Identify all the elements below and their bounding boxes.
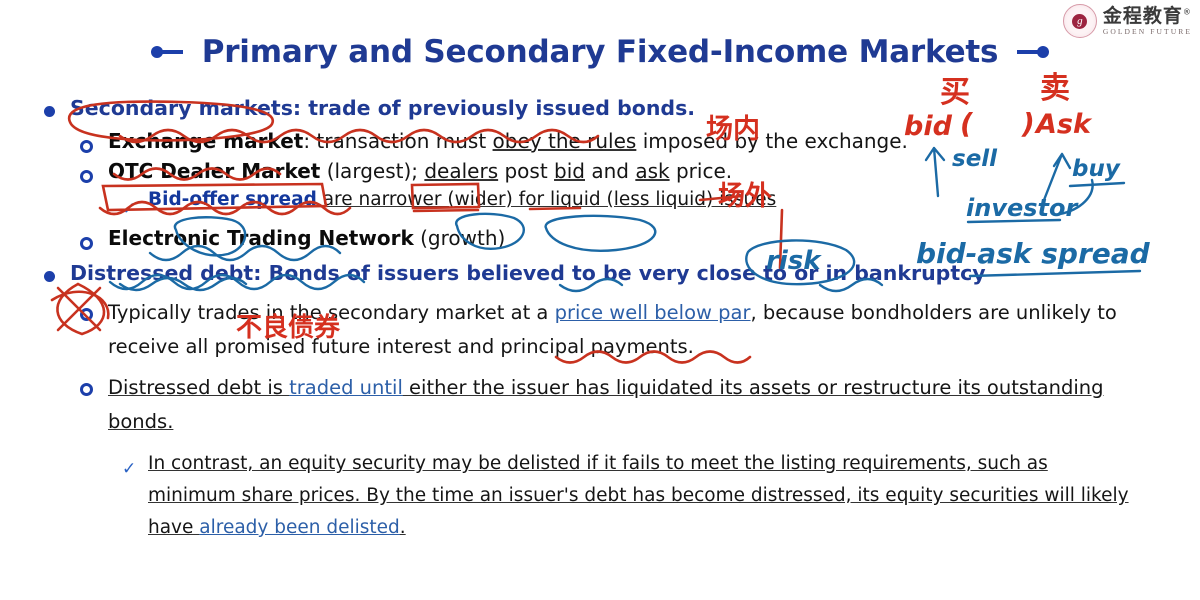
typically-trades-text: Typically trades in the secondary market…	[108, 296, 1143, 363]
bullet-secondary-markets: Secondary markets: trade of previously i…	[44, 96, 1164, 122]
bullet-dot-icon	[44, 96, 70, 117]
typically-trades-a: Typically trades in the secondary market…	[108, 301, 555, 324]
slide-canvas: g 金程教育® GOLDEN FUTURE Primary and Second…	[0, 0, 1200, 600]
slide-body: Secondary markets: trade of previously i…	[44, 96, 1164, 544]
exchange-market-rest-b: imposed by the exchange.	[636, 129, 908, 153]
bullet-ring-icon	[80, 296, 108, 321]
bullet-exchange-market: Exchange market: transaction must obey t…	[80, 128, 1164, 154]
arrow-right-icon	[1013, 44, 1049, 60]
logo-name-cn: 金程教育®	[1103, 7, 1192, 26]
otc-label: OTC Dealer Market	[108, 159, 320, 183]
bullet-exchange-market-text: Exchange market: transaction must obey t…	[108, 128, 908, 154]
bullet-distressed-debt: Distressed debt: Bonds of issuers believ…	[44, 261, 1164, 287]
exchange-market-underlined: obey the rules	[493, 129, 637, 153]
check-icon: ✓	[122, 448, 148, 479]
brand-logo: g 金程教育® GOLDEN FUTURE	[1063, 4, 1192, 38]
bullet-otc-text: OTC Dealer Market (largest); dealers pos…	[108, 158, 732, 184]
bid-offer-spread-label: Bid-offer spread	[148, 189, 317, 210]
otc-underline-ask: ask	[635, 159, 669, 183]
slide-title-row: Primary and Secondary Fixed-Income Marke…	[0, 34, 1200, 70]
bullet-electronic-trading-network: Electronic Trading Network (growth)	[80, 225, 1164, 251]
bullet-ring-icon	[80, 225, 108, 250]
link-price-well-below-par[interactable]: price well below par	[555, 301, 751, 324]
otc-rest-a: (largest);	[320, 159, 424, 183]
bullet-distressed-debt-text: Distressed debt: Bonds of issuers believ…	[70, 261, 986, 287]
otc-rest-b: post	[498, 159, 554, 183]
traded-until-a: Distressed debt is	[108, 376, 289, 399]
logo-emblem-icon: g	[1063, 4, 1097, 38]
bid-offer-spread-rest: are narrower (wider) for liquid (less li…	[317, 189, 776, 210]
in-contrast-b: .	[400, 517, 406, 538]
bid-offer-spread-text: Bid-offer spread are narrower (wider) fo…	[148, 188, 776, 212]
electronic-trading-network-label: Electronic Trading Network	[108, 226, 414, 250]
traded-until-text: Distressed debt is traded until either t…	[108, 371, 1143, 438]
bullet-typically-trades: Typically trades in the secondary market…	[80, 296, 1164, 363]
bullet-secondary-markets-text: Secondary markets: trade of previously i…	[70, 96, 695, 122]
bullet-traded-until: Distressed debt is traded until either t…	[80, 371, 1164, 438]
check-icon: ✓	[122, 188, 148, 219]
bullet-in-contrast: ✓ In contrast, an equity security may be…	[122, 448, 1164, 543]
arrow-left-icon	[151, 44, 187, 60]
bullet-otc-dealer-market: OTC Dealer Market (largest); dealers pos…	[80, 158, 1164, 184]
bullet-bid-offer-spread: ✓ Bid-offer spread are narrower (wider) …	[122, 188, 1164, 219]
otc-rest-d: price.	[670, 159, 733, 183]
exchange-market-rest-a: : transaction must	[303, 129, 492, 153]
logo-name-cn-text: 金程教育	[1103, 5, 1183, 27]
otc-rest-c: and	[585, 159, 635, 183]
bullet-ring-icon	[80, 158, 108, 183]
exchange-market-label: Exchange market	[108, 129, 303, 153]
otc-underline-bid: bid	[554, 159, 585, 183]
logo-text: 金程教育® GOLDEN FUTURE	[1103, 7, 1192, 36]
in-contrast-text: In contrast, an equity security may be d…	[148, 448, 1138, 543]
bullet-ring-icon	[80, 128, 108, 153]
page-title: Primary and Secondary Fixed-Income Marke…	[202, 34, 999, 70]
logo-emblem-letter: g	[1064, 5, 1096, 37]
logo-registered-mark: ®	[1183, 7, 1192, 16]
otc-underline-dealers: dealers	[424, 159, 498, 183]
link-already-been-delisted[interactable]: already been delisted	[199, 517, 400, 538]
electronic-trading-network-text: Electronic Trading Network (growth)	[108, 225, 505, 251]
electronic-trading-network-rest: (growth)	[414, 226, 506, 250]
bullet-ring-icon	[80, 371, 108, 396]
bullet-dot-icon	[44, 261, 70, 282]
link-traded-until[interactable]: traded until	[289, 376, 403, 399]
